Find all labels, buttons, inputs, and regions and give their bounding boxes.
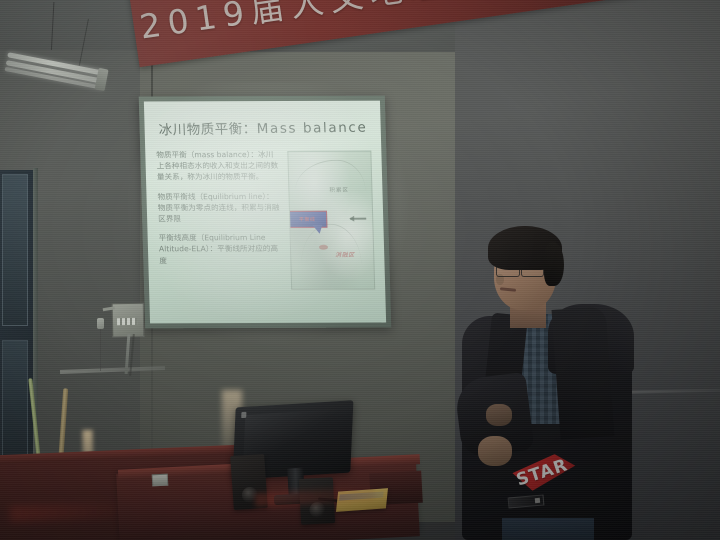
switch-wire [100, 329, 101, 371]
doorway[interactable] [0, 170, 37, 500]
figure-label-accumulation: 积累区 [329, 186, 349, 194]
jeans [502, 518, 594, 540]
figure-callout-text: 平衡线 [299, 216, 316, 223]
slide-paragraph-2: 物质平衡线（Equilibrium line）：物质平衡为零点的连线，积累与消融… [157, 191, 280, 225]
figure-arrow-icon [350, 218, 366, 220]
jacket-lapel-right [552, 306, 615, 439]
wall-power-outlet[interactable] [152, 474, 169, 487]
presenter: STAR [452, 218, 652, 540]
door-glass-lower [2, 340, 28, 462]
projected-slide: 冰川物质平衡：Mass balance 物质平衡（mass balance）：冰… [144, 101, 386, 324]
slide-body-text: 物质平衡（mass balance）：冰川上各种相态水的收入和支出之间的数量关系… [156, 149, 282, 274]
hand [478, 436, 512, 466]
small-wall-switch[interactable] [97, 318, 104, 329]
hair-side [544, 242, 564, 286]
glacier-figure: 积累区 平衡线 消融区 [287, 151, 375, 290]
figure-label-ablation: 消融区 [335, 250, 355, 259]
monitor-brand-badge [241, 412, 246, 418]
projection-screen: 冰川物质平衡：Mass balance 物质平衡（mass balance）：冰… [139, 96, 392, 329]
slide-paragraph-1: 物质平衡（mass balance）：冰川上各种相态水的收入和支出之间的数量关系… [156, 149, 279, 183]
slide-title-cn: 冰川物质平衡： [158, 121, 257, 138]
slide-paragraph-3: 平衡线高度（Equilibrium Line Altitude-ELA）：平衡线… [159, 232, 282, 266]
classroom-scene: 2019届人文地理学硕士研究生毕业论 冰川物质平衡：Mass balance 物… [0, 0, 720, 540]
slide-title: 冰川物质平衡：Mass balance [158, 116, 367, 139]
door-glass-upper [2, 174, 28, 326]
figure-callout-pointer [312, 225, 322, 234]
electrical-panel-box[interactable] [112, 303, 145, 338]
figure-highlight-blob [319, 245, 328, 250]
breaker-switches-icon[interactable] [117, 318, 137, 325]
slide-title-en: Mass balance [256, 120, 367, 138]
hand-upper [486, 404, 512, 426]
